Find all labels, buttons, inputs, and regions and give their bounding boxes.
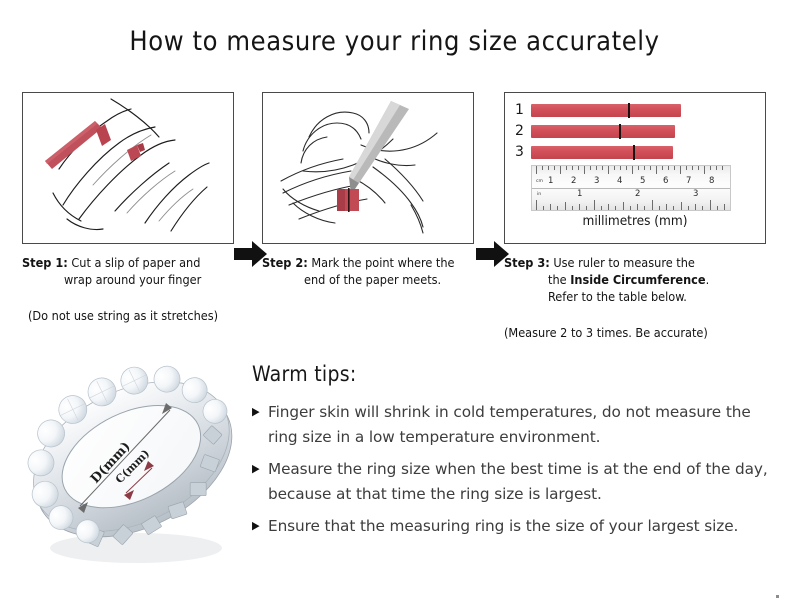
strip-bar-1	[531, 104, 681, 117]
strip-mark-tick-1	[628, 103, 630, 118]
step-1-illustration-panel	[22, 92, 234, 244]
strip-bar-2	[531, 125, 675, 138]
step-2-illustration-panel	[262, 92, 474, 244]
step-3-caption: Step 3: Use ruler to measure the the Ins…	[504, 254, 766, 305]
step-3-note: (Measure 2 to 3 times. Be accurate)	[504, 325, 766, 340]
arrow-step2-to-step3-icon	[474, 237, 512, 271]
step-1-note: (Do not use string as it stretches)	[22, 308, 234, 323]
ruler-divider	[532, 188, 730, 189]
strip-mark-tick-3	[633, 145, 635, 160]
paper-slip-red	[45, 121, 102, 169]
step-2-text-line2: end of the paper meets.	[262, 271, 474, 288]
list-item: ▶ Ensure that the measuring ring is the …	[252, 514, 772, 539]
step-3-text-line1: Use ruler to measure the	[553, 255, 695, 270]
warm-tips-heading: Warm tips:	[252, 362, 772, 386]
page-title: How to measure your ring size accurately	[0, 26, 789, 57]
ruler-cm-label-1: 1	[548, 177, 553, 186]
warm-tip-text-1: Finger skin will shrink in cold temperat…	[268, 400, 772, 450]
ruler-illustration: cm 1 2 3 4 5 6 7 8 in 1 2 3	[531, 165, 731, 211]
step-2-text-line1: Mark the point where the	[311, 255, 454, 270]
ruler-inch-unit-tag: in	[537, 192, 541, 197]
strip-row: 1	[515, 101, 751, 119]
eternity-ring-diagram: D(mm) C(mm)	[18, 356, 250, 578]
bullet-triangle-icon: ▶	[252, 457, 268, 474]
ruler-cm-label-7: 7	[686, 177, 691, 186]
ruler-cm-label-2: 2	[571, 177, 576, 186]
strip-number-1: 1	[515, 103, 531, 117]
step-1-caption: Step 1: Cut a slip of paper and wrap aro…	[22, 254, 234, 288]
step-3-text-line2-suffix: .	[706, 272, 710, 287]
warm-tip-text-3: Ensure that the measuring ring is the si…	[268, 514, 772, 539]
strip-mark-tick-2	[619, 124, 621, 139]
warm-tip-text-2: Measure the ring size when the best time…	[268, 457, 772, 507]
corner-artifact	[776, 595, 779, 598]
step-3-text-line2-prefix: the	[548, 272, 570, 287]
step-3-column: 1 2 3	[504, 92, 766, 340]
hand-marking-paper-illustration	[263, 93, 473, 243]
ruler-inch-label-2: 2	[635, 190, 640, 199]
bullet-triangle-icon: ▶	[252, 514, 268, 531]
step-1-column: Step 1: Cut a slip of paper and wrap aro…	[22, 92, 234, 323]
strip-number-2: 2	[515, 124, 531, 138]
warm-tips-block: Warm tips: ▶ Finger skin will shrink in …	[252, 362, 772, 546]
strip-number-3: 3	[515, 145, 531, 159]
paper-slip-marked-red	[337, 188, 359, 212]
arrow-step1-to-step2-icon	[232, 237, 270, 271]
list-item: ▶ Measure the ring size when the best ti…	[252, 457, 772, 507]
hand-with-paper-slip-illustration	[23, 93, 233, 243]
ruler-cm-label-4: 4	[617, 177, 622, 186]
ruler-cm-label-5: 5	[640, 177, 645, 186]
step-2-caption: Step 2: Mark the point where the end of …	[262, 254, 474, 288]
ruler-cm-label-3: 3	[594, 177, 599, 186]
ruler-cm-unit-tag: cm	[536, 179, 543, 184]
steps-row: Step 1: Cut a slip of paper and wrap aro…	[0, 92, 789, 332]
ruler-inch-label-3: 3	[693, 190, 698, 199]
step-3-text-inside-circumference: Inside Circumference	[570, 272, 705, 287]
bullet-triangle-icon: ▶	[252, 400, 268, 417]
list-item: ▶ Finger skin will shrink in cold temper…	[252, 400, 772, 450]
step-3-illustration-panel: 1 2 3	[504, 92, 766, 244]
ruler-inch-label-1: 1	[577, 190, 582, 199]
strip-row: 3	[515, 143, 751, 161]
step-2-column: Step 2: Mark the point where the end of …	[262, 92, 474, 288]
step-1-label: Step 1:	[22, 255, 68, 270]
strip-row: 2	[515, 122, 751, 140]
ruler-cm-label-8: 8	[709, 177, 714, 186]
ruler-cm-label-6: 6	[663, 177, 668, 186]
step-1-text-line2: wrap around your finger	[22, 271, 234, 288]
paper-strips-group: 1 2 3	[515, 101, 751, 164]
strip-bar-3	[531, 146, 673, 159]
step-3-text-line3: Refer to the table below.	[504, 288, 766, 305]
step-1-text-line1: Cut a slip of paper and	[71, 255, 200, 270]
ruler-unit-caption: millimetres (mm)	[505, 213, 765, 229]
